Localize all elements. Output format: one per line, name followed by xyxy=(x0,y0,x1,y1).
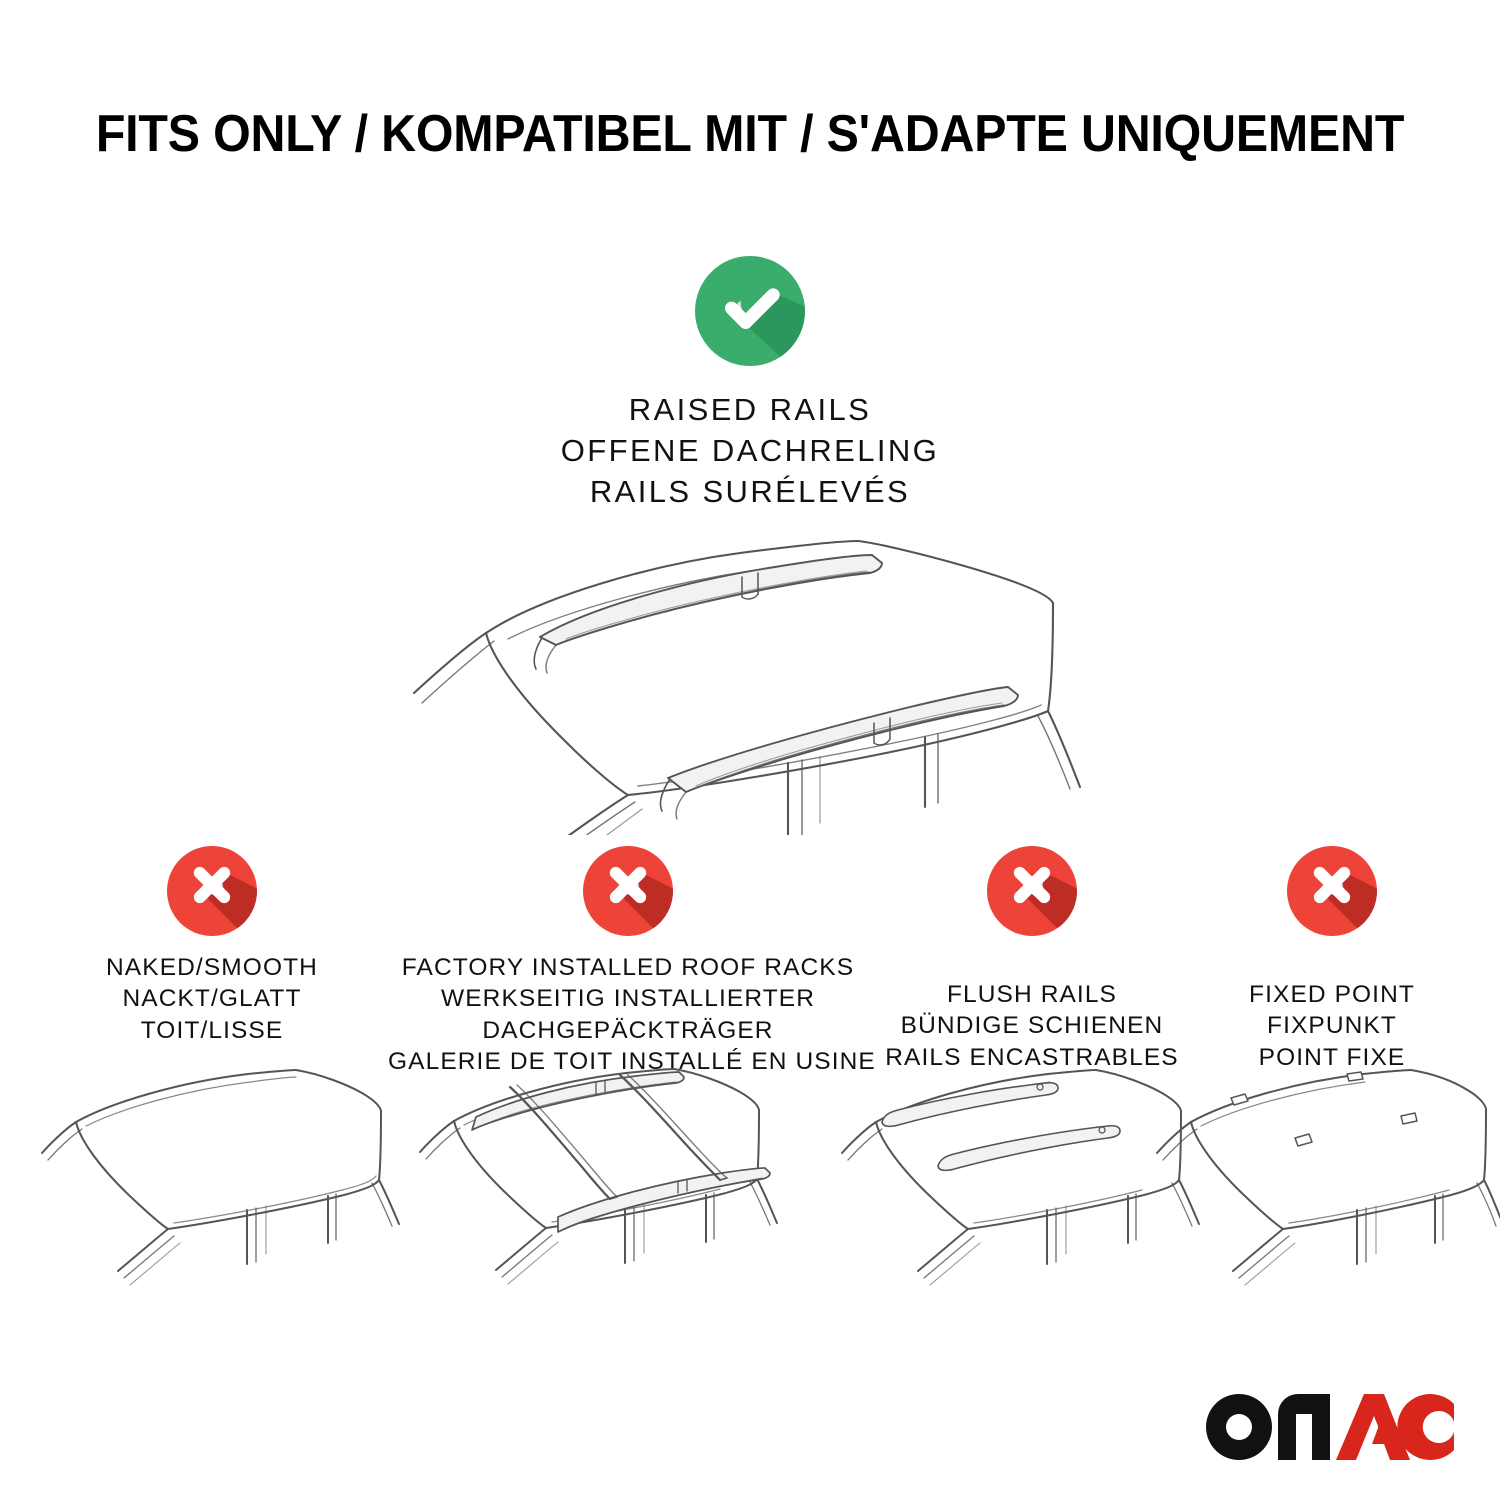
incompatible-labels-fixed-point: FIXED POINT FIXPUNKT POINT FIXE xyxy=(1182,979,1482,1073)
fitment-infographic: FITS ONLY / KOMPATIBEL MIT / S'ADAPTE UN… xyxy=(0,0,1500,1500)
omac-logo: OMAC xyxy=(1206,1392,1456,1462)
compatible-label-en: RAISED RAILS xyxy=(0,390,1500,431)
incompatible-column-fixed-point: FIXED POINT FIXPUNKT POINT FIXE xyxy=(1182,845,1482,1073)
incompatible-label-line: DACHGEPÄCKTRÄGER xyxy=(388,1015,868,1046)
car-roof-naked-smooth-illustration xyxy=(40,1060,430,1305)
car-roof-raised-rails-illustration xyxy=(390,505,1120,835)
car-roof-fixed-point-illustration xyxy=(1155,1060,1500,1305)
incompatible-section: NAKED/SMOOTH NACKT/GLATT TOIT/LISSE xyxy=(0,845,1500,1325)
x-circle-icon xyxy=(166,845,258,937)
compatible-label-de: OFFENE DACHRELING xyxy=(0,431,1500,472)
x-circle-icon xyxy=(582,845,674,937)
compatible-labels: RAISED RAILS OFFENE DACHRELING RAILS SUR… xyxy=(0,390,1500,513)
incompatible-label-line: WERKSEITIG INSTALLIERTER xyxy=(388,983,868,1014)
incompatible-labels-flush-rails: FLUSH RAILS BÜNDIGE SCHIENEN RAILS ENCAS… xyxy=(852,979,1212,1073)
incompatible-column-factory-racks: FACTORY INSTALLED ROOF RACKS WERKSEITIG … xyxy=(388,845,868,1077)
check-circle-icon xyxy=(694,255,806,367)
incompatible-label-line: TOIT/LISSE xyxy=(32,1015,392,1046)
incompatible-label-line: BÜNDIGE SCHIENEN xyxy=(852,1010,1212,1041)
car-roof-factory-racks-illustration xyxy=(410,1045,810,1305)
incompatible-label-line: NAKED/SMOOTH xyxy=(32,952,392,983)
x-circle-icon xyxy=(986,845,1078,937)
incompatible-label-line: FIXPUNKT xyxy=(1182,1010,1482,1041)
page-title: FITS ONLY / KOMPATIBEL MIT / S'ADAPTE UN… xyxy=(53,104,1448,164)
x-circle-icon xyxy=(1286,845,1378,937)
incompatible-label-line: NACKT/GLATT xyxy=(32,983,392,1014)
incompatible-column-naked-smooth: NAKED/SMOOTH NACKT/GLATT TOIT/LISSE xyxy=(32,845,392,1046)
incompatible-label-line: FLUSH RAILS xyxy=(852,979,1212,1010)
incompatible-label-line: FACTORY INSTALLED ROOF RACKS xyxy=(388,952,868,983)
incompatible-label-line: FIXED POINT xyxy=(1182,979,1482,1010)
incompatible-labels-naked-smooth: NAKED/SMOOTH NACKT/GLATT TOIT/LISSE xyxy=(32,952,392,1046)
incompatible-column-flush-rails: FLUSH RAILS BÜNDIGE SCHIENEN RAILS ENCAS… xyxy=(852,845,1212,1073)
compatible-section: RAISED RAILS OFFENE DACHRELING RAILS SUR… xyxy=(0,255,1500,513)
